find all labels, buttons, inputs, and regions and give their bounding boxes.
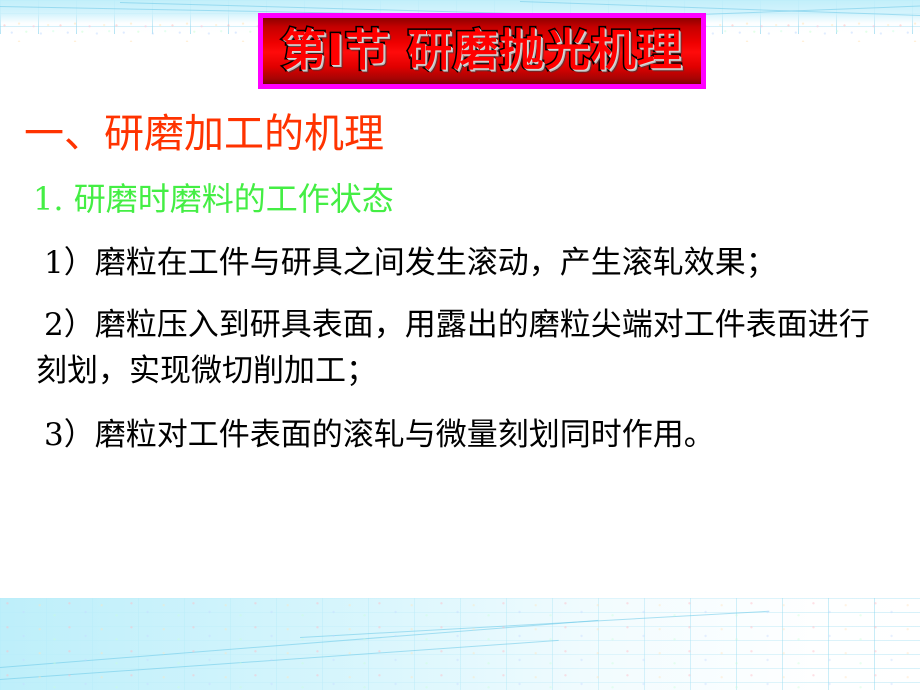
bottom-decoration-streaks bbox=[0, 598, 920, 690]
body-content: 1）磨粒在工件与研具之间发生滚动，产生滚轧效果； 2）磨粒压入到研具表面，用露出… bbox=[36, 240, 892, 470]
body-paragraph: 1）磨粒在工件与研具之间发生滚动，产生滚轧效果； bbox=[36, 240, 892, 286]
slide-canvas: 第Ⅰ节 研磨抛光机理 一、研磨加工的机理 1. 研磨时磨料的工作状态 1）磨粒在… bbox=[0, 0, 920, 690]
body-paragraph: 2）磨粒压入到研具表面，用露出的磨粒尖端对工件表面进行刻划，实现微切削加工； bbox=[36, 302, 892, 394]
bottom-decoration-band bbox=[0, 598, 920, 690]
streak-line bbox=[300, 611, 769, 638]
slide-title-text: 第Ⅰ节 研磨抛光机理 bbox=[281, 29, 683, 73]
subsection-heading: 1. 研磨时磨料的工作状态 bbox=[33, 182, 394, 218]
bottom-decoration-fade bbox=[0, 590, 920, 604]
streak-line bbox=[0, 640, 559, 680]
streak-line bbox=[0, 620, 598, 668]
streak-line bbox=[700, 5, 920, 15]
section-heading: 一、研磨加工的机理 bbox=[24, 112, 384, 157]
bottom-decoration-speckle bbox=[0, 598, 920, 690]
slide-title-box: 第Ⅰ节 研磨抛光机理 bbox=[258, 13, 706, 89]
body-paragraph: 3）磨粒对工件表面的滚轧与微量刻划同时作用。 bbox=[36, 412, 892, 458]
